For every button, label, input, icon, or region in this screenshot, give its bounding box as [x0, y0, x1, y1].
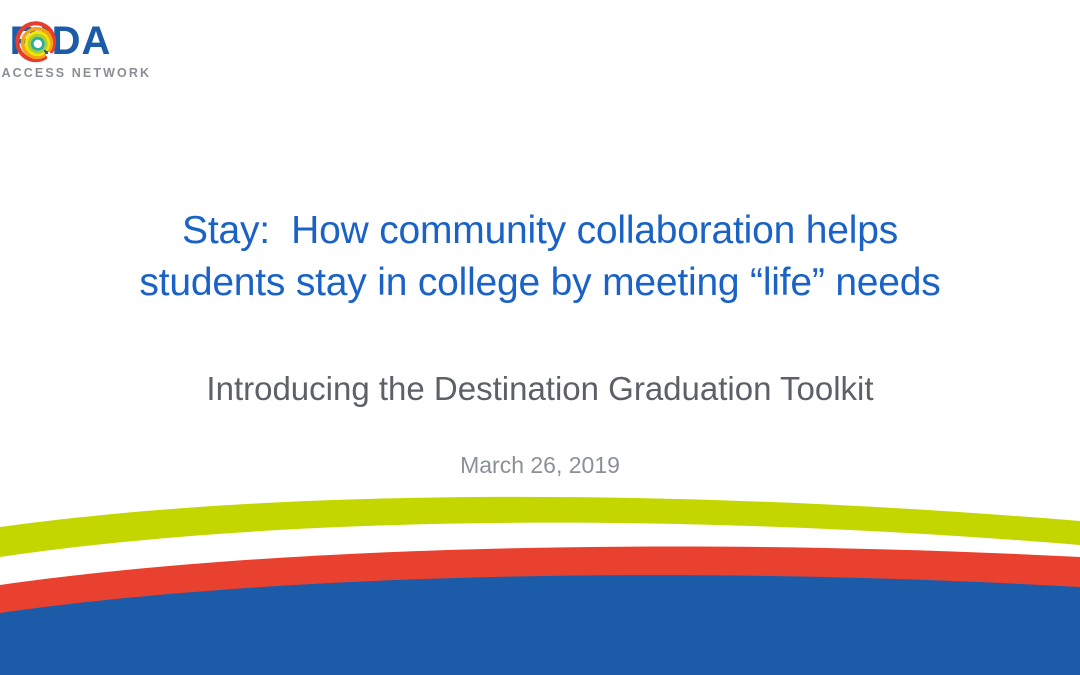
rainbow-ring-icon	[12, 18, 58, 64]
slide-subtitle: Introducing the Destination Graduation T…	[40, 367, 1040, 411]
slide-title-line-2: students stay in college by meeting “lif…	[40, 257, 1040, 309]
organization-logo: LORIDA LEGE ACCESS NETWORK	[0, 16, 212, 86]
presentation-slide: LORIDA LEGE ACCESS NETWORK Stay: How com…	[0, 0, 1080, 675]
logo-tagline-text: LEGE ACCESS NETWORK	[0, 66, 151, 80]
logo-wordmark-row: LORIDA	[0, 16, 212, 66]
logo-wordmark-letter-o: O	[0, 19, 10, 63]
decorative-wave-graphic	[0, 485, 1080, 675]
slide-title: Stay: How community collaboration helps …	[40, 205, 1040, 309]
slide-date: March 26, 2019	[40, 450, 1040, 480]
slide-title-line-1: Stay: How community collaboration helps	[40, 205, 1040, 257]
